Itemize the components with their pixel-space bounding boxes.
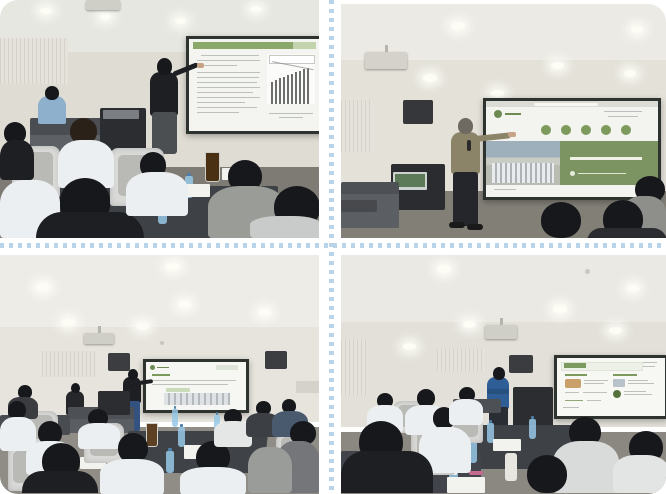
slide-item-text bbox=[565, 392, 579, 393]
ceiling-light bbox=[551, 62, 564, 69]
attendee-head bbox=[527, 455, 567, 493]
photo-top-right[interactable] bbox=[341, 4, 666, 238]
attendee-back bbox=[250, 216, 319, 238]
window-curtain bbox=[341, 339, 367, 395]
attendee-back bbox=[22, 471, 98, 493]
ceiling-light bbox=[166, 263, 180, 270]
projector-icon bbox=[84, 333, 114, 344]
wall-speaker-icon bbox=[403, 100, 433, 124]
slide-item-text bbox=[628, 380, 648, 381]
ceiling-light bbox=[403, 343, 416, 350]
water-bottle bbox=[166, 451, 174, 473]
slide-column-title bbox=[565, 374, 587, 376]
slide-item-text bbox=[587, 400, 601, 401]
slide-text-line bbox=[152, 380, 236, 381]
slide-tab bbox=[216, 365, 238, 370]
smoke-detector-icon bbox=[585, 269, 590, 274]
slide-chip bbox=[166, 388, 190, 392]
hero-photo-tanks bbox=[492, 163, 554, 183]
projector-icon bbox=[86, 0, 120, 10]
ceiling-light bbox=[136, 323, 149, 330]
ceiling-light bbox=[463, 321, 476, 328]
attendee-back bbox=[180, 467, 246, 494]
window-curtain bbox=[341, 100, 373, 152]
attendee-head bbox=[541, 202, 581, 238]
slide-text-line bbox=[201, 55, 259, 56]
chart-bar bbox=[271, 82, 273, 104]
ceiling-light bbox=[423, 74, 437, 82]
ceiling-light bbox=[178, 301, 191, 308]
coffee-cup bbox=[146, 423, 158, 447]
attendee-back bbox=[613, 455, 666, 493]
slide-item-text bbox=[584, 380, 608, 381]
chart-caption-line bbox=[279, 117, 303, 118]
wall-speaker-icon bbox=[265, 351, 287, 369]
slide-item-text bbox=[584, 383, 604, 384]
slide-item-text bbox=[583, 392, 607, 393]
wall-speaker-icon bbox=[108, 353, 130, 371]
room-scene-tl bbox=[0, 0, 319, 238]
attendee-back bbox=[449, 399, 483, 425]
photo-top-right-image bbox=[341, 4, 666, 238]
slide-meta bbox=[643, 362, 657, 363]
presenter-hand bbox=[197, 63, 204, 68]
projection-screen bbox=[186, 36, 319, 134]
slide-tab bbox=[564, 363, 586, 368]
slide-item-thumb bbox=[613, 379, 625, 387]
ceiling-light bbox=[62, 319, 75, 326]
presenter-legs bbox=[453, 172, 478, 226]
attendee-back bbox=[78, 423, 120, 449]
room-scene-br bbox=[341, 255, 666, 494]
slide-title bbox=[152, 374, 170, 376]
slide-photo-block bbox=[164, 393, 230, 405]
ceiling-light bbox=[627, 285, 639, 292]
laptop-screen bbox=[395, 174, 425, 187]
slide-brand-text bbox=[157, 367, 169, 368]
site-feature-icon bbox=[541, 125, 551, 135]
presenter-head bbox=[157, 58, 172, 75]
presenter-hand bbox=[508, 132, 516, 137]
notebook bbox=[493, 439, 521, 451]
site-feature-icon bbox=[621, 125, 631, 135]
microphone-icon bbox=[467, 140, 471, 151]
ceiling-light bbox=[609, 327, 622, 334]
slide-text-line bbox=[197, 92, 253, 93]
presenter-shoe bbox=[467, 224, 483, 230]
slide-text-line bbox=[197, 87, 260, 88]
attendee-back bbox=[341, 451, 433, 493]
slide-header-accent bbox=[293, 42, 316, 49]
site-brand-text bbox=[505, 113, 521, 115]
slide-surface bbox=[189, 39, 319, 131]
slide-meta bbox=[643, 366, 655, 367]
attendee-back bbox=[587, 228, 666, 238]
presenter-crossed-arms bbox=[487, 389, 509, 394]
slide-item-text bbox=[624, 394, 652, 395]
site-feature-icon bbox=[581, 125, 591, 135]
site-feature-icon bbox=[561, 125, 571, 135]
water-bottle bbox=[529, 419, 536, 439]
ceiling-light bbox=[491, 90, 504, 97]
slide-footer bbox=[563, 407, 579, 408]
attendee-head bbox=[45, 86, 59, 100]
hero-url-icon bbox=[570, 171, 575, 176]
ceiling-light bbox=[631, 26, 643, 33]
presenter-head bbox=[458, 118, 473, 134]
water-bottle bbox=[172, 409, 178, 427]
attendee-back bbox=[100, 459, 164, 494]
slide-item-thumb bbox=[565, 379, 581, 388]
hero-url-text bbox=[578, 173, 626, 175]
projection-screen bbox=[143, 359, 249, 413]
slide-text-line bbox=[197, 60, 260, 61]
presenter-shoe bbox=[449, 222, 465, 228]
slide-item-text bbox=[565, 400, 583, 401]
attendee-back bbox=[36, 212, 144, 238]
ceiling-light bbox=[451, 22, 465, 30]
conference-table bbox=[341, 200, 377, 212]
ceiling-light bbox=[100, 14, 111, 20]
ceiling-light bbox=[624, 70, 636, 77]
slide-header-bar bbox=[193, 42, 293, 49]
slide-text-line bbox=[197, 82, 257, 83]
slide-surface bbox=[557, 358, 665, 416]
site-nav bbox=[608, 116, 638, 117]
ceiling-light bbox=[36, 283, 50, 291]
projector-icon bbox=[485, 325, 517, 339]
attendee-back bbox=[0, 140, 34, 180]
window-curtain bbox=[42, 351, 96, 377]
projection-screen bbox=[483, 98, 661, 200]
ceiling-light bbox=[40, 8, 52, 14]
slide-chart bbox=[267, 54, 315, 104]
site-nav bbox=[604, 111, 642, 112]
photo-collage bbox=[0, 0, 666, 494]
water-bottle bbox=[178, 427, 185, 447]
coffee-cup bbox=[205, 152, 220, 182]
slide-item-text bbox=[624, 391, 646, 392]
browser-url-bar bbox=[534, 103, 598, 106]
room-scene-tr bbox=[341, 4, 666, 238]
photo-bottom-left-image bbox=[0, 255, 319, 494]
slide-text-line bbox=[197, 97, 260, 98]
ceiling-light bbox=[175, 18, 186, 24]
slide-text-line bbox=[197, 102, 245, 103]
pen bbox=[469, 471, 483, 475]
horizontal-dotted-divider bbox=[0, 243, 666, 248]
site-footer bbox=[494, 189, 516, 190]
slide-logo-icon bbox=[150, 365, 155, 370]
attendee-back bbox=[126, 172, 188, 216]
slide-text-line bbox=[197, 107, 257, 108]
ceiling-light bbox=[250, 6, 262, 12]
air-conditioner bbox=[296, 381, 319, 393]
ceiling-light bbox=[437, 265, 451, 273]
projector-icon bbox=[365, 52, 407, 69]
slide-column-title bbox=[613, 374, 637, 376]
slide-text-line bbox=[197, 112, 239, 113]
av-equipment bbox=[103, 110, 139, 119]
attendee-torso bbox=[38, 96, 66, 124]
slide-text-line bbox=[197, 77, 259, 78]
thermos bbox=[505, 453, 517, 481]
window-curtain bbox=[0, 38, 68, 84]
presenter-torso bbox=[150, 72, 178, 116]
presenter-head bbox=[493, 367, 505, 380]
photo-bottom-right[interactable] bbox=[341, 255, 666, 494]
wall-speaker-icon bbox=[509, 355, 533, 373]
site-feature-icon bbox=[601, 125, 611, 135]
photo-top-left-image bbox=[0, 0, 319, 238]
photo-bottom-right-image bbox=[341, 255, 666, 494]
site-logo-icon bbox=[494, 110, 502, 118]
slide-item-text bbox=[628, 383, 654, 384]
window-curtain bbox=[437, 349, 485, 371]
slide-item-icon bbox=[613, 390, 621, 398]
photo-top-left[interactable] bbox=[0, 0, 319, 238]
facilitator-head bbox=[71, 383, 80, 393]
notebook bbox=[447, 477, 485, 493]
slide-text-line bbox=[152, 384, 228, 385]
room-scene-bl bbox=[0, 255, 319, 494]
smoke-detector-icon bbox=[160, 341, 164, 345]
ceiling-light bbox=[258, 309, 271, 316]
chart-caption-line bbox=[269, 113, 313, 114]
presenter-head bbox=[128, 369, 138, 380]
photo-bottom-left[interactable] bbox=[0, 255, 319, 494]
slide-surface bbox=[146, 362, 246, 410]
hero-headline bbox=[570, 157, 642, 160]
attendee-back bbox=[248, 447, 292, 493]
ceiling-light bbox=[553, 305, 567, 313]
slide-text-line bbox=[197, 72, 260, 73]
website-surface bbox=[486, 101, 658, 197]
projection-screen bbox=[554, 355, 666, 419]
